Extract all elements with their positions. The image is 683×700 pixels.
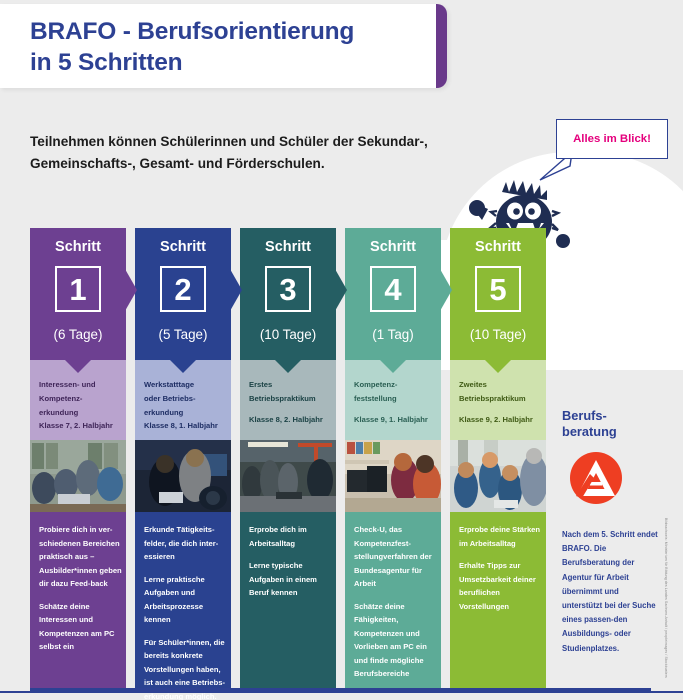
step-column-4: Schritt 4 (1 Tag) Kompetenz- feststellun…: [345, 228, 441, 688]
career-advice-text: Nach dem 5. Schritt endet BRAFO. Die Ber…: [562, 528, 660, 656]
step-number-3: 3: [279, 274, 296, 305]
step-photo-4: [345, 440, 441, 512]
infographic-page: BRAFO - Berufsorientierung in 5 Schritte…: [0, 0, 683, 700]
spacer-4: [354, 406, 438, 413]
step-number-4: 4: [384, 274, 401, 305]
step-title-line-1-3: erkundung: [39, 408, 78, 417]
step-details-text-1: Probiere dich in ver-schiedenen Bereiche…: [39, 523, 124, 663]
step-label-3: Schritt: [240, 239, 336, 255]
step-summary-4: Kompetenz- feststellung Klasse 9, 1. Hal…: [345, 360, 441, 440]
step-grade-4: Klasse 9, 1. Halbjahr: [354, 415, 428, 424]
step-column-2: Schritt 2 (5 Tage) Werkstatttage oder Be…: [135, 228, 231, 688]
step-header-5: Schritt 5 (10 Tage): [450, 228, 546, 360]
step-number-box-3: 3: [265, 266, 311, 312]
step-details-3: Erprobe dich im Arbeitsalltag Lerne typi…: [240, 512, 336, 688]
step-summary-text-3: Erstes Betriebspraktikum Klasse 8, 2. Ha…: [249, 378, 333, 426]
step-summary-text-2: Werkstatttage oder Betriebs- erkundung K…: [144, 378, 228, 433]
step-details-2: Erkunde Tätigkeits-felder, die dich inte…: [135, 512, 231, 688]
career-advice-title-line-1: Berufs-: [562, 408, 607, 423]
step-summary-text-5: Zweites Betriebspraktikum Klasse 9, 2. H…: [459, 378, 543, 426]
step-photo-1: [30, 440, 126, 512]
speech-bubble: Alles im Blick!: [556, 119, 668, 159]
step-title-line-2-1: Werkstatttage: [144, 380, 194, 389]
page-title: BRAFO - Berufsorientierung in 5 Schritte…: [30, 17, 425, 79]
photo-students-library: [30, 440, 126, 512]
step-header-3: Schritt 3 (10 Tage): [240, 228, 336, 360]
step-detail-paragraph-5-1: Erprobe deine Stärken im Arbeitsalltag: [459, 523, 544, 550]
step-label-1: Schritt: [30, 239, 126, 255]
step-pointer-4: [380, 360, 406, 373]
photo-computer-room: [345, 440, 441, 512]
intro-paragraph: Teilnehmen können Schülerinnen und Schül…: [30, 131, 490, 175]
photo-apprentices-overalls: [450, 440, 546, 512]
step-pointer-1: [65, 360, 91, 373]
step-photo-5: [450, 440, 546, 512]
step-title-line-2-2: oder Betriebs-: [144, 394, 195, 403]
step-duration-1: (6 Tage): [30, 327, 126, 342]
intro-line-2: Gemeinschafts-, Gesamt- und Förderschule…: [30, 156, 325, 171]
step-detail-paragraph-4-1: Check-U, das Kompetenzfest-stellungverfa…: [354, 523, 439, 591]
step-title-line-3-1: Erstes: [249, 380, 272, 389]
step-detail-paragraph-5-2: Erhalte Tipps zur Umsetzbarkeit deiner b…: [459, 559, 544, 613]
step-header-4: Schritt 4 (1 Tag): [345, 228, 441, 360]
step-number-box-2: 2: [160, 266, 206, 312]
step-pointer-3: [275, 360, 301, 373]
step-duration-3: (10 Tage): [240, 327, 336, 342]
bundesagentur-fuer-arbeit-logo-icon: [570, 452, 622, 504]
step-detail-paragraph-1-1: Probiere dich in ver-schiedenen Bereiche…: [39, 523, 124, 591]
step-detail-paragraph-3-2: Lerne typische Aufgaben in einem Beruf k…: [249, 559, 334, 600]
step-summary-text-4: Kompetenz- feststellung Klasse 9, 1. Hal…: [354, 378, 438, 426]
step-title-line-1-1: Interessen- und: [39, 380, 96, 389]
step-number-1: 1: [69, 274, 86, 305]
step-number-box-4: 4: [370, 266, 416, 312]
step-column-5: Schritt 5 (10 Tage) Zweites Betriebsprak…: [450, 228, 546, 688]
step-details-text-2: Erkunde Tätigkeits-felder, die dich inte…: [144, 523, 229, 700]
step-detail-paragraph-4-2: Schätze deine Fähigkeiten, Kompetenzen u…: [354, 600, 439, 681]
step-column-3: Schritt 3 (10 Tage) Erstes Betriebsprakt…: [240, 228, 336, 688]
footer-rule-full: [0, 691, 683, 693]
career-advice-title-line-2: beratung: [562, 424, 617, 439]
step-details-text-4: Check-U, das Kompetenzfest-stellungverfa…: [354, 523, 439, 690]
step-duration-4: (1 Tag): [345, 327, 441, 342]
step-grade-3: Klasse 8, 2. Halbjahr: [249, 415, 323, 424]
speech-bubble-text: Alles im Blick!: [557, 120, 667, 158]
title-card: BRAFO - Berufsorientierung in 5 Schritte…: [0, 4, 447, 88]
step-title-line-5-2: Betriebspraktikum: [459, 394, 526, 403]
step-label-2: Schritt: [135, 239, 231, 255]
step-summary-5: Zweites Betriebspraktikum Klasse 9, 2. H…: [450, 360, 546, 440]
title-card-accent-edge: [436, 4, 447, 88]
page-title-line-1: BRAFO - Berufsorientierung: [30, 18, 354, 45]
step-label-5: Schritt: [450, 239, 546, 255]
step-details-1: Probiere dich in ver-schiedenen Bereiche…: [30, 512, 126, 688]
step-grade-5: Klasse 9, 2. Halbjahr: [459, 415, 533, 424]
step-summary-1: Interessen- und Kompetenz- erkundung Kla…: [30, 360, 126, 440]
photo-workshop-group: [240, 440, 336, 512]
step-summary-3: Erstes Betriebspraktikum Klasse 8, 2. Ha…: [240, 360, 336, 440]
step-label-4: Schritt: [345, 239, 441, 255]
step-arrow-4: [440, 269, 452, 311]
step-photo-3: [240, 440, 336, 512]
step-number-box-1: 1: [55, 266, 101, 312]
step-details-4: Check-U, das Kompetenzfest-stellungverfa…: [345, 512, 441, 688]
career-advice-panel: Berufs- beratung: [562, 408, 672, 441]
step-header-2: Schritt 2 (5 Tage): [135, 228, 231, 360]
photo-students-camera: [135, 440, 231, 512]
step-photo-2: [135, 440, 231, 512]
step-pointer-2: [170, 360, 196, 373]
step-grade-2: Klasse 8, 1. Halbjahr: [144, 421, 218, 430]
photo-credit: Bildnachweis: Ministerium für Bildung de…: [664, 518, 668, 678]
step-detail-paragraph-1-2: Schätze deine Interessen und Kompetenzen…: [39, 600, 124, 654]
step-number-2: 2: [174, 274, 191, 305]
step-arrow-1: [125, 269, 137, 311]
step-details-text-5: Erprobe deine Stärken im Arbeitsalltag E…: [459, 523, 544, 622]
step-detail-paragraph-2-1: Erkunde Tätigkeits-felder, die dich inte…: [144, 523, 229, 564]
intro-line-1: Teilnehmen können Schülerinnen und Schül…: [30, 134, 428, 149]
step-title-line-4-2: feststellung: [354, 394, 397, 403]
step-number-box-5: 5: [475, 266, 521, 312]
step-duration-2: (5 Tage): [135, 327, 231, 342]
career-advice-title: Berufs- beratung: [562, 408, 672, 441]
step-details-text-3: Erprobe dich im Arbeitsalltag Lerne typi…: [249, 523, 334, 609]
step-summary-text-1: Interessen- und Kompetenz- erkundung Kla…: [39, 378, 123, 433]
step-detail-paragraph-3-1: Erprobe dich im Arbeitsalltag: [249, 523, 334, 550]
step-pointer-5: [485, 360, 511, 373]
spacer-5: [459, 406, 543, 413]
step-arrow-2: [230, 269, 242, 311]
step-title-line-4-1: Kompetenz-: [354, 380, 397, 389]
step-grade-1: Klasse 7, 2. Halbjahr: [39, 421, 113, 430]
step-number-5: 5: [489, 274, 506, 305]
page-title-line-2: in 5 Schritten: [30, 49, 182, 76]
step-duration-5: (10 Tage): [450, 327, 546, 342]
spacer-3: [249, 406, 333, 413]
step-arrow-3: [335, 269, 347, 311]
step-summary-2: Werkstatttage oder Betriebs- erkundung K…: [135, 360, 231, 440]
step-column-1: Schritt 1 (6 Tage) Interessen- und Kompe…: [30, 228, 126, 688]
step-header-1: Schritt 1 (6 Tage): [30, 228, 126, 360]
step-detail-paragraph-2-2: Lerne praktische Aufgaben und Arbeitspro…: [144, 573, 229, 627]
step-details-5: Erprobe deine Stärken im Arbeitsalltag E…: [450, 512, 546, 688]
step-title-line-1-2: Kompetenz-: [39, 394, 82, 403]
step-title-line-3-2: Betriebspraktikum: [249, 394, 316, 403]
step-title-line-2-3: erkundung: [144, 408, 183, 417]
step-title-line-5-1: Zweites: [459, 380, 487, 389]
